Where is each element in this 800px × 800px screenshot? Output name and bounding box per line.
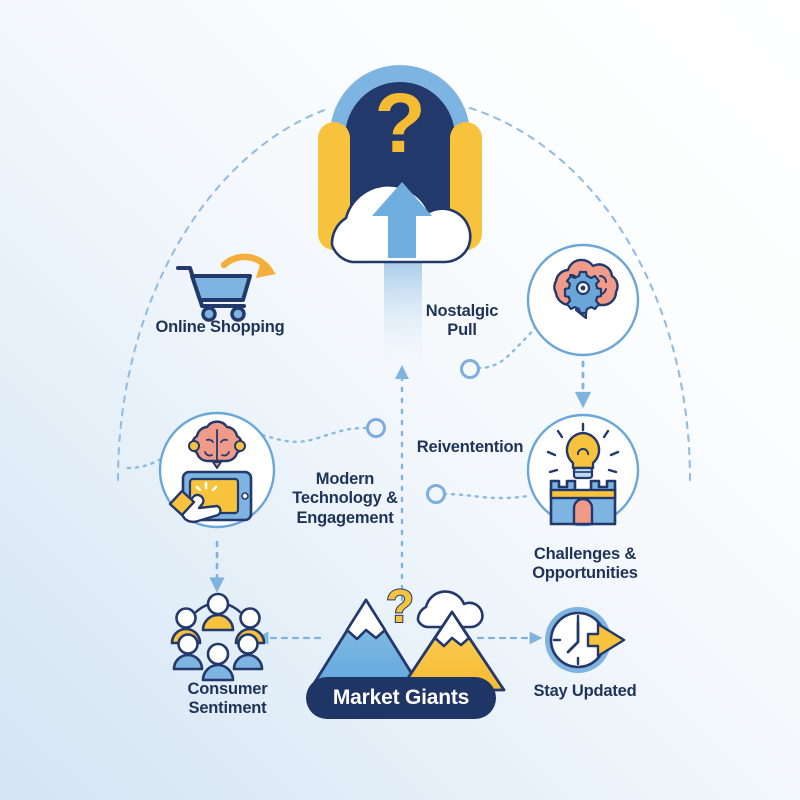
label-reinvention: Reiventention bbox=[380, 438, 560, 457]
svg-text:?: ? bbox=[386, 580, 414, 632]
clock-arrow-icon bbox=[545, 607, 624, 673]
label-stay-updated: Stay Updated bbox=[495, 682, 675, 701]
shopping-cart-refresh-icon bbox=[178, 257, 276, 320]
connector-node-center bbox=[462, 361, 479, 378]
people-group-circle-icon bbox=[172, 594, 264, 680]
badge-market-giants: Market Giants bbox=[306, 677, 496, 719]
svg-text:?: ? bbox=[374, 76, 425, 170]
label-consumer-sentiment: Consumer Sentiment bbox=[140, 680, 315, 719]
mountains-question-cloud-icon: ? bbox=[310, 580, 504, 690]
question-archway-cloud-upload-icon: ? bbox=[318, 65, 482, 262]
label-online-shopping: Online Shopping bbox=[110, 318, 330, 337]
castle-lightbulb-icon bbox=[528, 415, 638, 525]
label-nostalgic-pull: Nostalgic Pull bbox=[372, 302, 552, 341]
connector-node-left bbox=[368, 420, 385, 437]
infographic-canvas: ? bbox=[0, 0, 800, 800]
label-challenges-opportunities: Challenges & Opportunities bbox=[490, 545, 680, 584]
connector-node-right bbox=[428, 486, 445, 503]
brain-tablet-touch-icon bbox=[160, 413, 274, 527]
label-modern-technology-engagement: Modern Technology & Engagement bbox=[265, 470, 425, 528]
wavy-right-connector bbox=[444, 494, 528, 498]
